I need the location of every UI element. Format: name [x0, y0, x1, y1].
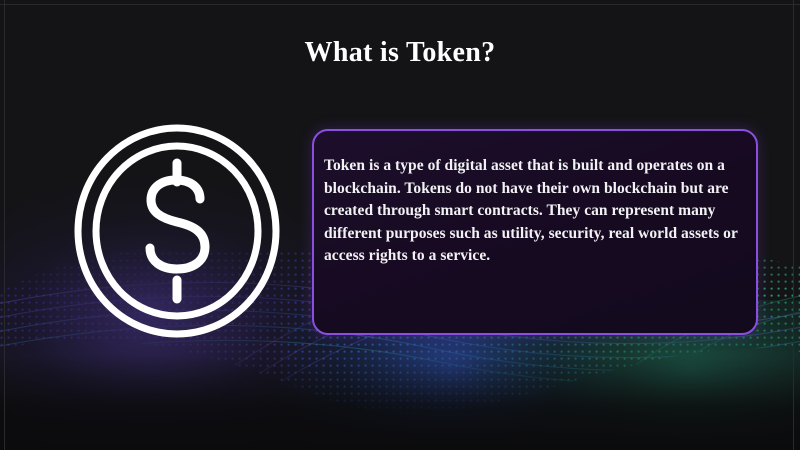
dollar-s-curve: [150, 180, 205, 269]
slide-canvas: What is Token? Token is a type of digita…: [0, 0, 800, 450]
description-card: Token is a type of digital asset that is…: [312, 129, 758, 335]
description-text: Token is a type of digital asset that is…: [324, 155, 752, 268]
bottom-fade-overlay: [0, 355, 800, 450]
dollar-coin-icon: [71, 121, 283, 341]
dollar-coin-svg: [71, 121, 283, 341]
page-title: What is Token?: [0, 36, 800, 70]
